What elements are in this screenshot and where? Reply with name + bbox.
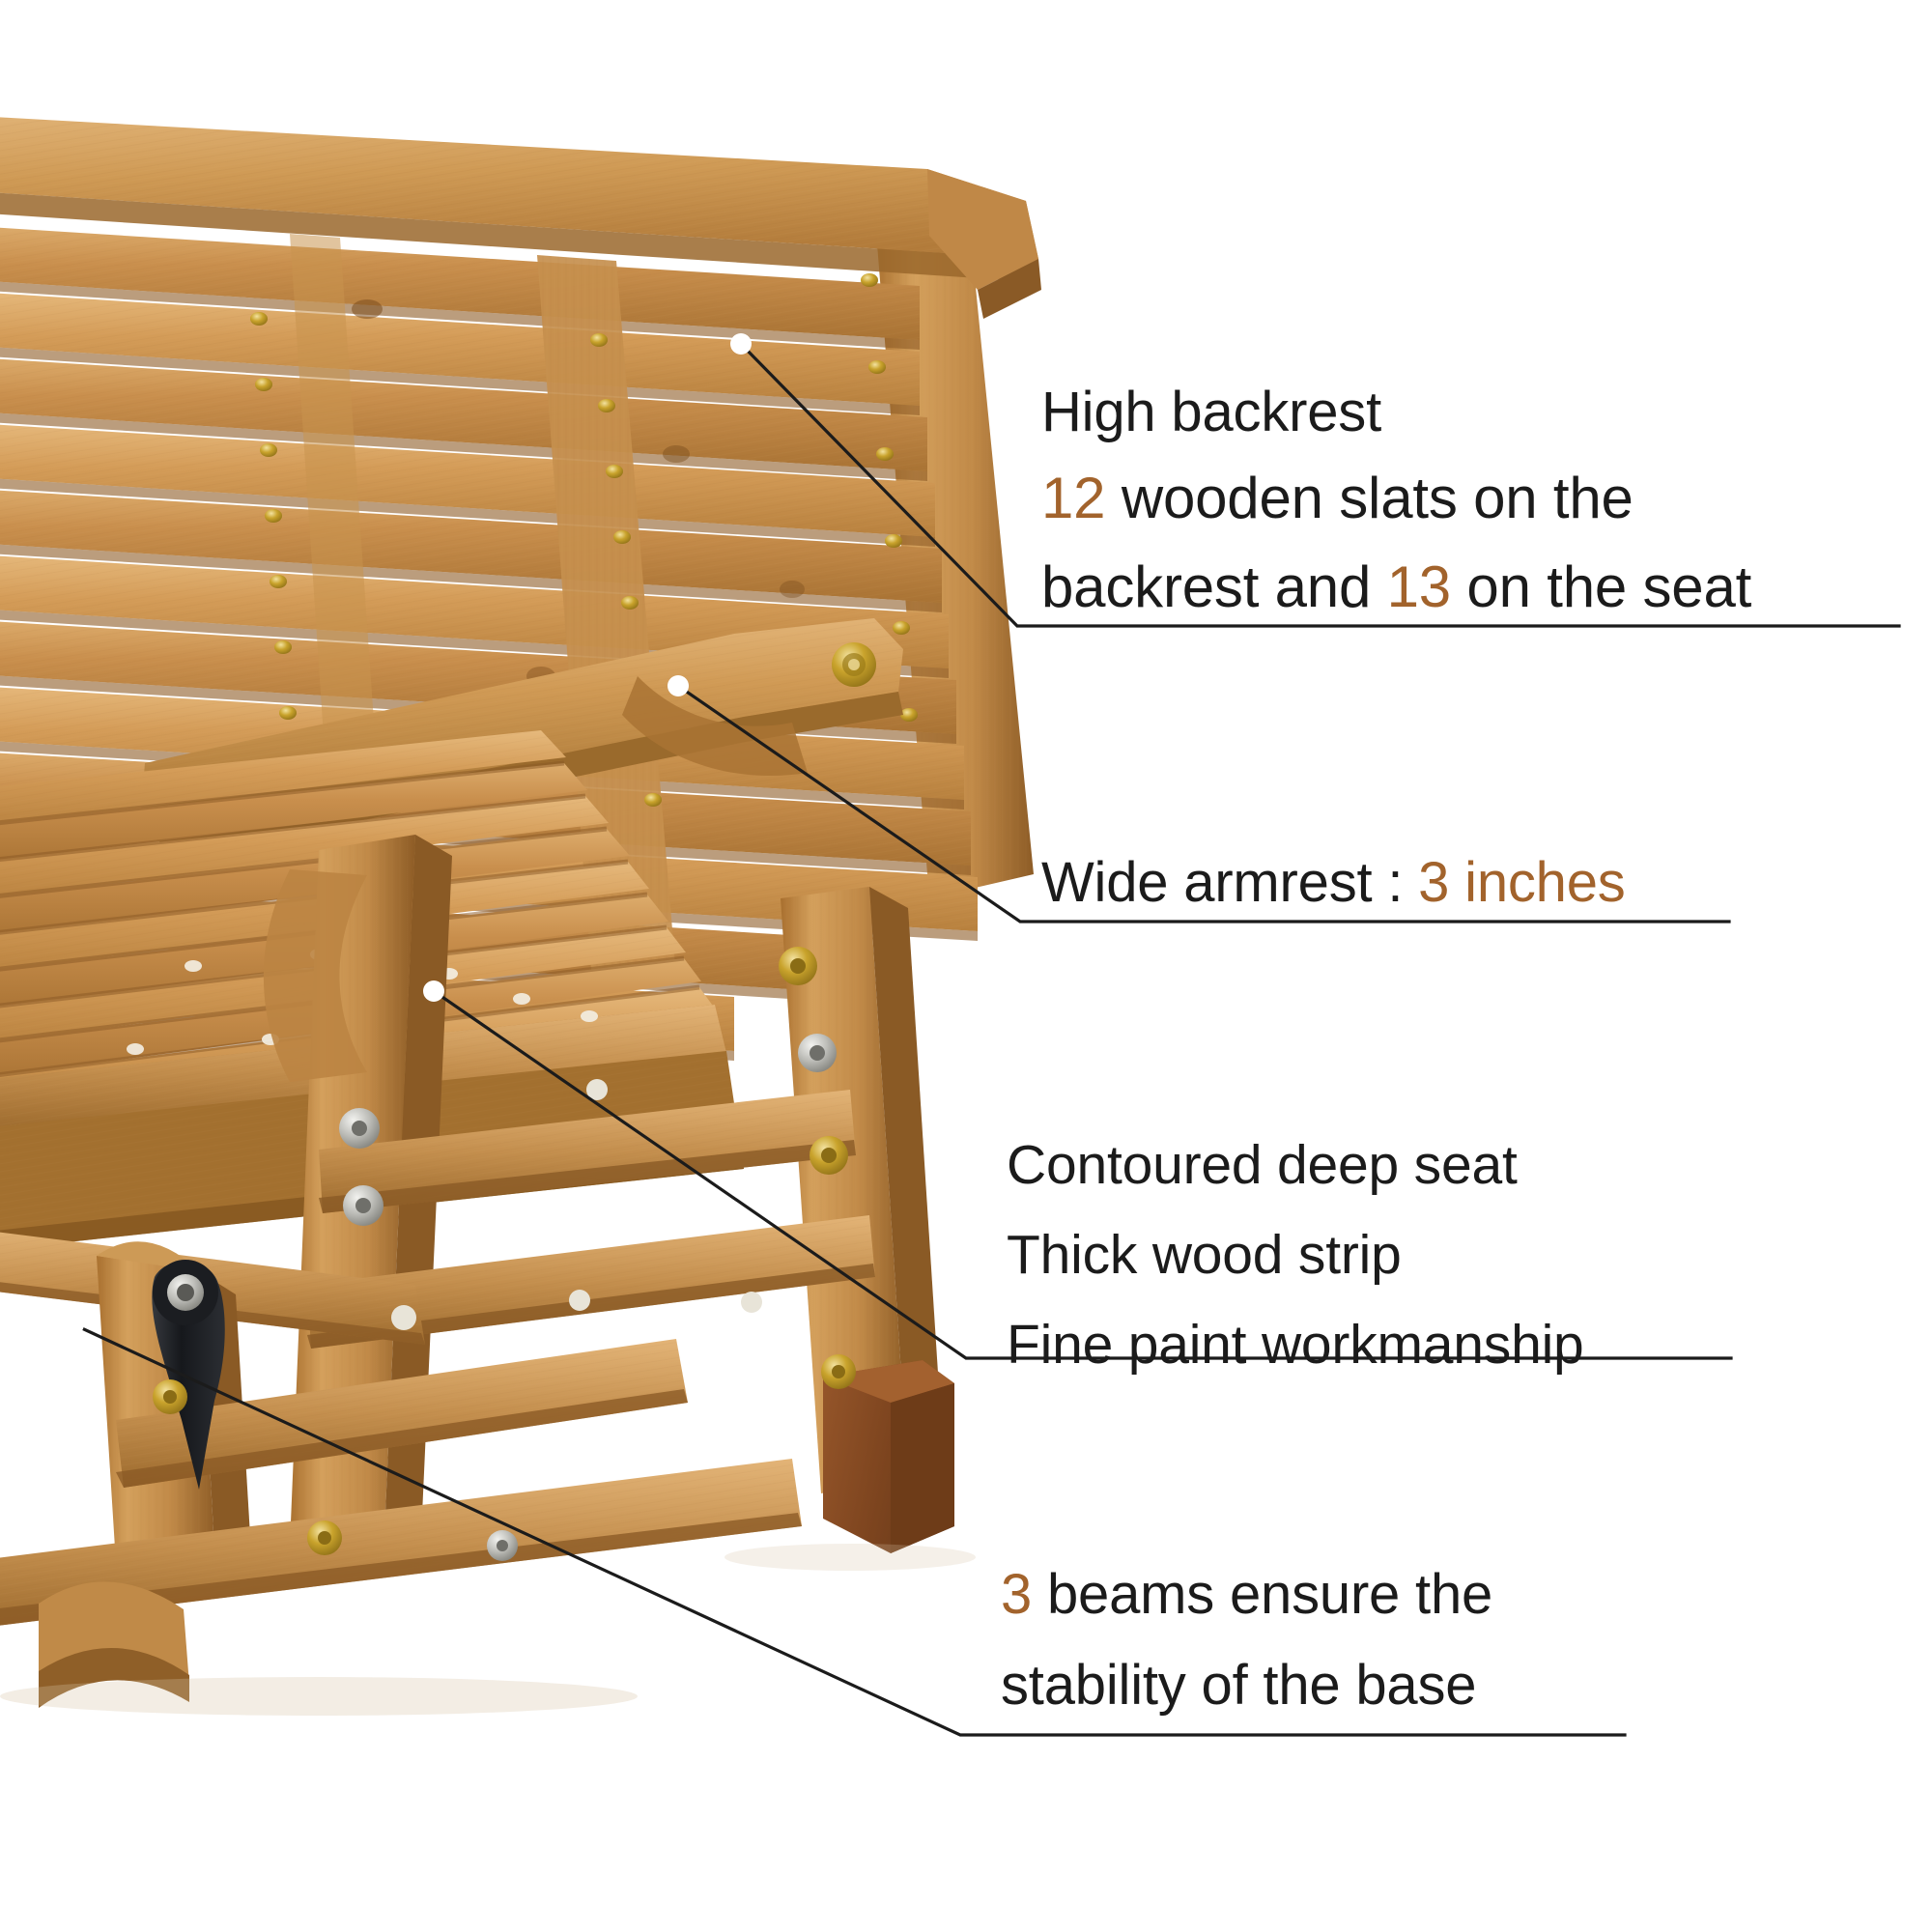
base-beam-count: 3 bbox=[1001, 1563, 1032, 1626]
seat-slat-count: 13 bbox=[1387, 554, 1451, 619]
callout-backrest-line-1: High backrest bbox=[1041, 371, 1751, 454]
callout-beams-line-2: stability of the base bbox=[1001, 1640, 1492, 1731]
callout-seat: Contoured deep seat Thick wood strip Fin… bbox=[1007, 1121, 1584, 1390]
base-foot-block bbox=[823, 1360, 954, 1553]
armrest-width-value: 3 inches bbox=[1418, 851, 1625, 914]
callout-beams-line-1: 3 beams ensure the bbox=[1001, 1549, 1492, 1640]
callout-seat-line-3: Fine paint workmanship bbox=[1007, 1300, 1584, 1390]
callout-seat-line-1: Contoured deep seat bbox=[1007, 1121, 1584, 1210]
backrest-slat-count: 12 bbox=[1041, 466, 1105, 530]
callout-backrest-line-3: backrest and 13 on the seat bbox=[1041, 543, 1751, 632]
callout-beams: 3 beams ensure the stability of the base bbox=[1001, 1549, 1492, 1731]
infographic-canvas: High backrest 12 wooden slats on the bac… bbox=[0, 0, 1932, 1932]
callout-backrest: High backrest 12 wooden slats on the bac… bbox=[1041, 371, 1751, 632]
callout-seat-line-2: Thick wood strip bbox=[1007, 1210, 1584, 1300]
callout-armrest: Wide armrest : 3 inches bbox=[1041, 842, 1626, 923]
callout-armrest-line-1: Wide armrest : 3 inches bbox=[1041, 842, 1626, 923]
callout-backrest-line-2: 12 wooden slats on the bbox=[1041, 454, 1751, 543]
product-image-glider-bench bbox=[0, 0, 1932, 1932]
